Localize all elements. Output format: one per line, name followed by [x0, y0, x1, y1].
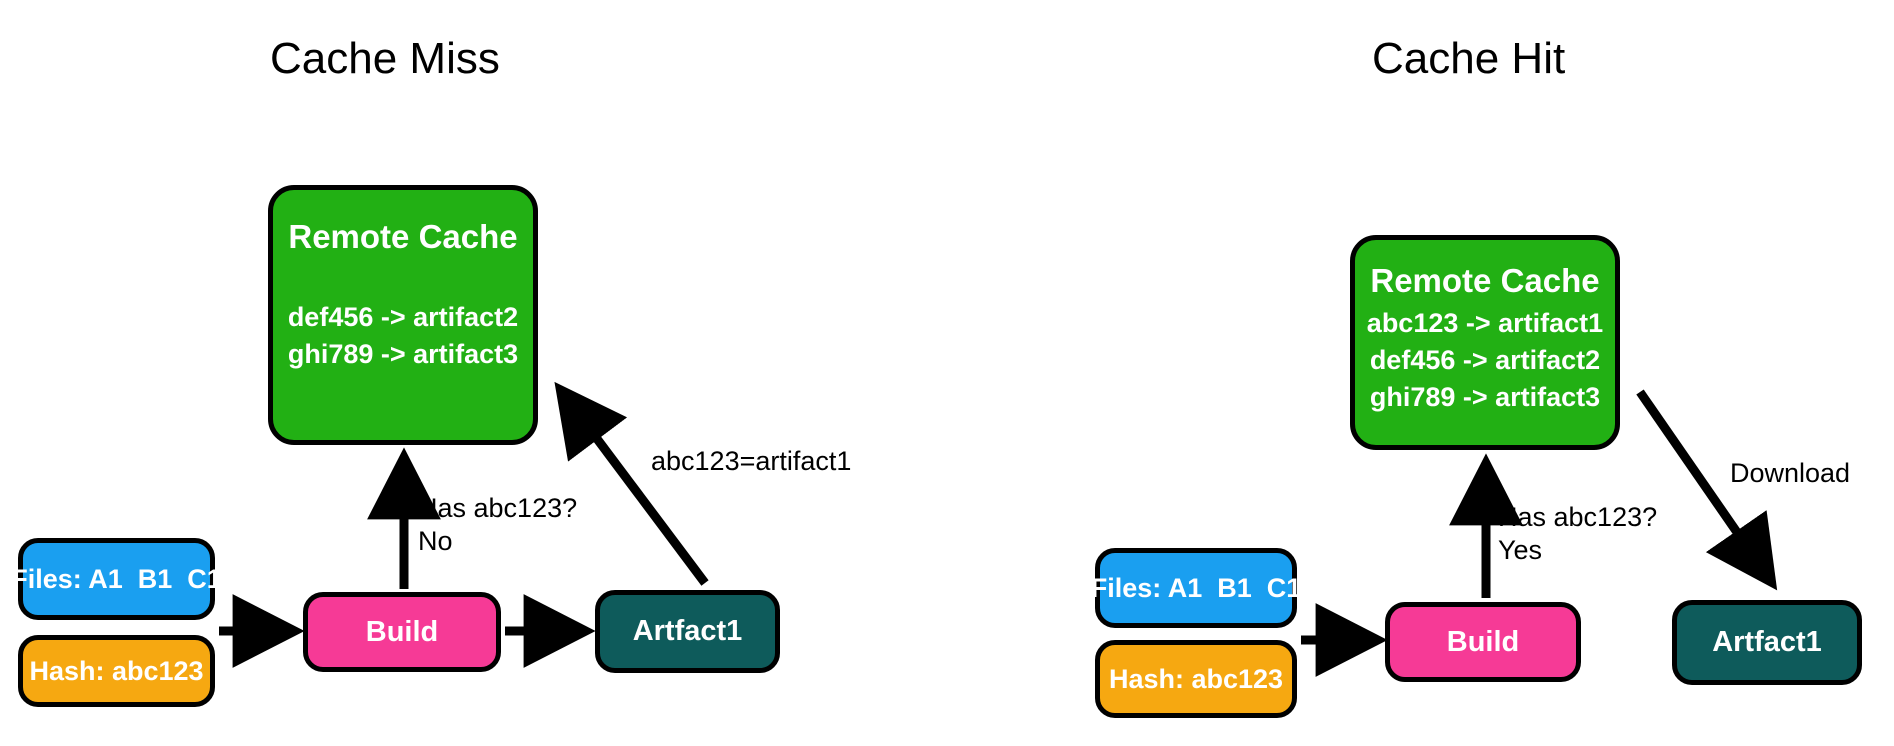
build-box-miss-label: Build	[366, 616, 439, 649]
edge-artifact-to-cache-left	[562, 392, 705, 583]
edge-label-download: Download	[1730, 457, 1850, 490]
hash-box-hit[interactable]: Hash: abc123	[1095, 640, 1297, 718]
edge-label-has-abc123-yes: Has abc123? Yes	[1498, 501, 1657, 567]
panel-title-cache-miss: Cache Miss	[270, 34, 500, 84]
remote-cache-box-miss[interactable]: Remote Cache def456 -> artifact2 ghi789 …	[268, 185, 538, 445]
edge-label-abc123-artifact1: abc123=artifact1	[651, 445, 851, 478]
diagram-canvas: Cache Miss Remote Cache def456 -> artifa…	[0, 0, 1894, 746]
hash-box-hit-label: Hash: abc123	[1109, 664, 1283, 695]
artifact-box-miss-label: Artfact1	[633, 615, 743, 648]
panel-title-cache-hit: Cache Hit	[1372, 34, 1565, 84]
cache-entry-hit-2: ghi789 -> artifact3	[1370, 382, 1600, 413]
cache-entry-hit-0: abc123 -> artifact1	[1367, 308, 1603, 339]
files-box-miss-label: Files: A1 B1 C1	[11, 564, 222, 595]
build-box-hit[interactable]: Build	[1385, 602, 1581, 682]
cache-entry-hit-1: def456 -> artifact2	[1370, 345, 1600, 376]
cache-entry-miss-1: ghi789 -> artifact3	[288, 339, 518, 370]
files-box-hit-label: Files: A1 B1 C1	[1091, 573, 1302, 604]
build-box-hit-label: Build	[1447, 626, 1520, 659]
hash-box-miss-label: Hash: abc123	[29, 656, 203, 687]
build-box-miss[interactable]: Build	[303, 592, 501, 672]
remote-cache-title-miss: Remote Cache	[288, 218, 517, 256]
cache-entry-miss-0: def456 -> artifact2	[288, 302, 518, 333]
edge-label-has-abc123-no: Has abc123? No	[418, 492, 577, 558]
remote-cache-title-hit: Remote Cache	[1370, 262, 1599, 300]
hash-box-miss[interactable]: Hash: abc123	[18, 635, 215, 707]
remote-cache-box-hit[interactable]: Remote Cache abc123 -> artifact1 def456 …	[1350, 235, 1620, 450]
artifact-box-hit[interactable]: Artfact1	[1672, 600, 1862, 685]
artifact-box-hit-label: Artfact1	[1712, 626, 1822, 659]
artifact-box-miss[interactable]: Artfact1	[595, 590, 780, 673]
files-box-miss[interactable]: Files: A1 B1 C1	[18, 538, 215, 620]
files-box-hit[interactable]: Files: A1 B1 C1	[1095, 548, 1297, 628]
